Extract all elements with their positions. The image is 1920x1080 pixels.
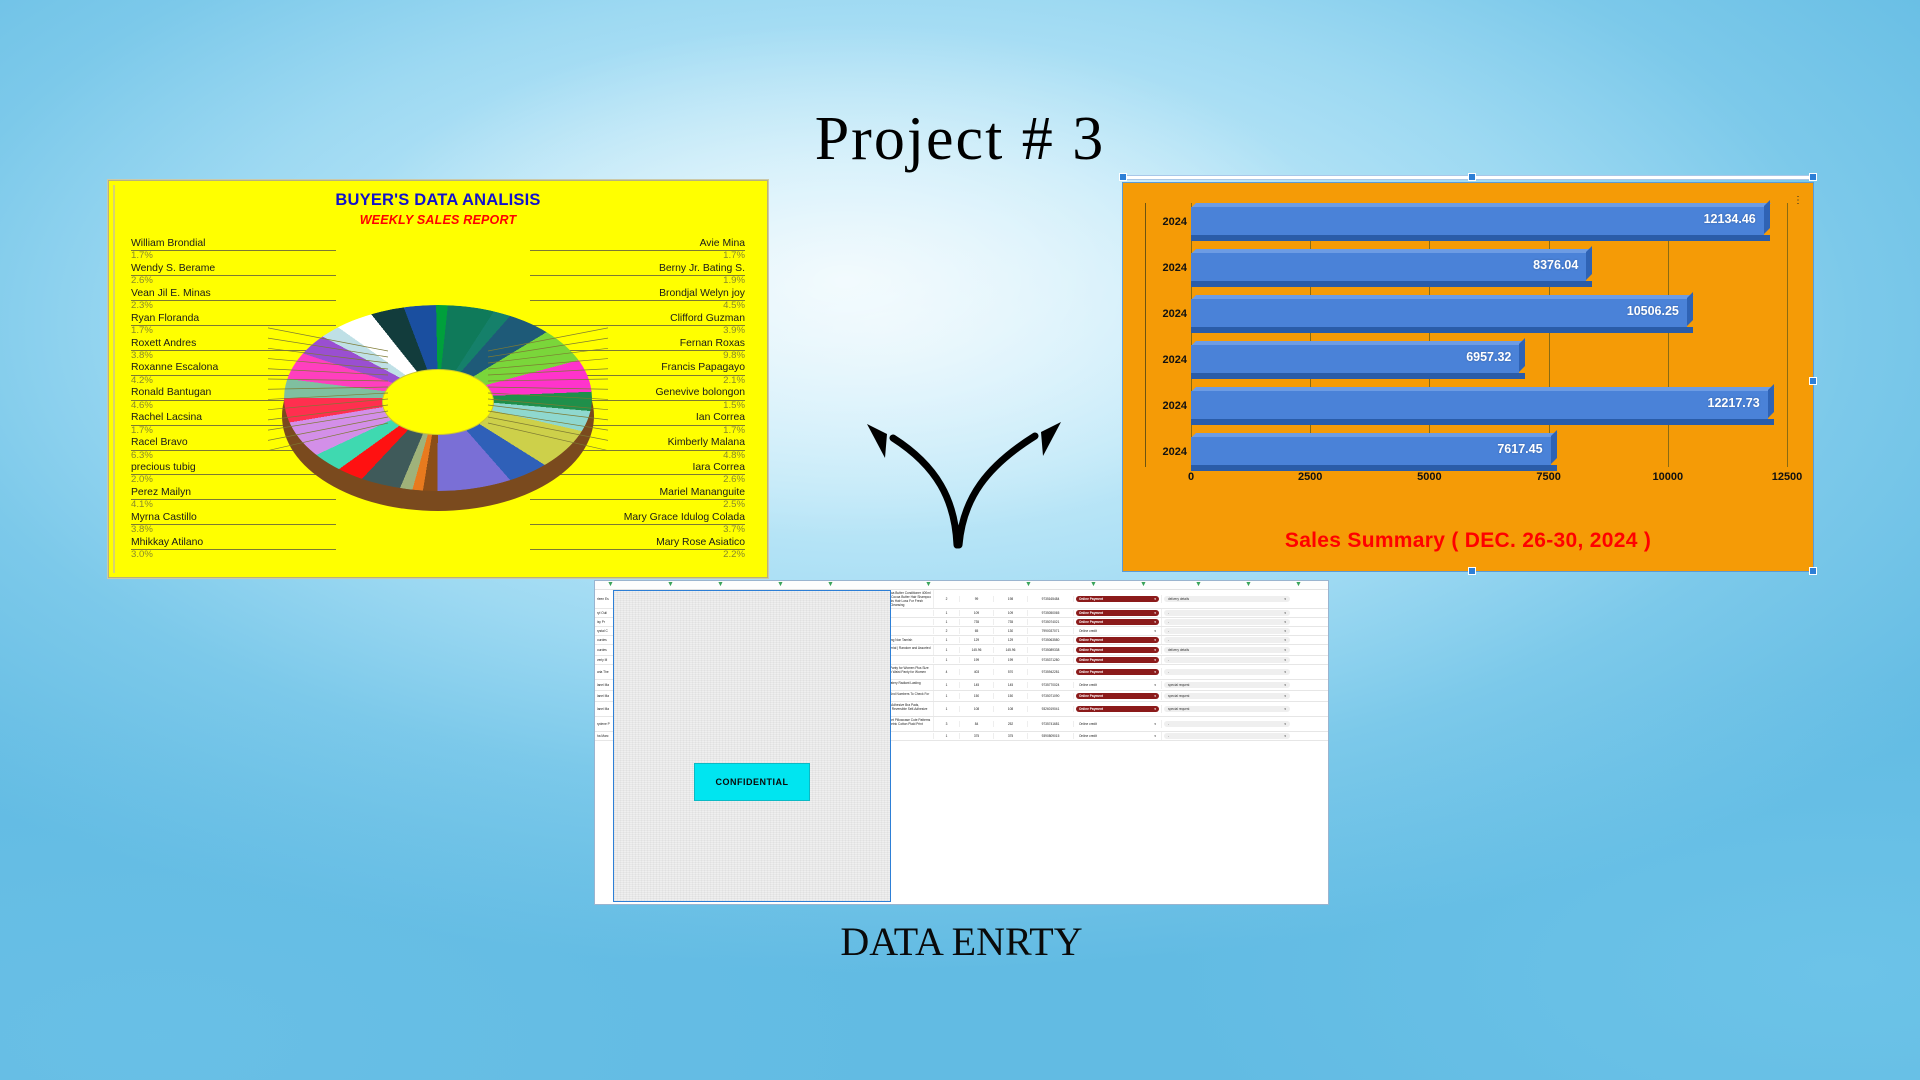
chevron-down-icon[interactable]: ▾ xyxy=(1154,597,1156,601)
bar-face xyxy=(1191,391,1768,419)
bar[interactable]: 8376.04 xyxy=(1191,253,1586,281)
pie-label-name: Berny Jr. Bating S. xyxy=(530,264,745,275)
resize-handle-bc[interactable] xyxy=(1468,567,1476,575)
pie-label-name: Mary Rose Asiatico xyxy=(530,538,745,549)
pie-label-item: William Brondial1.7% xyxy=(131,239,336,264)
x-tick-label: 12500 xyxy=(1772,471,1803,483)
column-filter-icon[interactable]: ▼ xyxy=(925,582,931,588)
split-arrow-icon xyxy=(845,370,1075,550)
pie-label-name: Wendy S. Berame xyxy=(131,264,336,275)
cell-note[interactable]: -▾ xyxy=(1162,636,1292,644)
cell-payment[interactable]: Online Payment▾ xyxy=(1074,595,1162,603)
bar-face xyxy=(1191,253,1586,281)
cell-quantity: 1 xyxy=(934,619,960,625)
bar-bottom-face xyxy=(1191,235,1770,241)
note-dropdown[interactable]: -▾ xyxy=(1164,628,1290,634)
cell-reference: 9326019041 xyxy=(1028,706,1074,712)
note-label: special request xyxy=(1168,707,1189,711)
note-label: - xyxy=(1168,611,1169,615)
bar-top-face xyxy=(1192,249,1593,253)
note-label: - xyxy=(1168,734,1169,738)
chevron-down-icon[interactable]: ▾ xyxy=(1284,620,1286,624)
chevron-down-icon[interactable]: ▾ xyxy=(1154,670,1156,674)
chevron-down-icon[interactable]: ▾ xyxy=(1284,648,1286,652)
pie-label-item: Mary Rose Asiatico2.2% xyxy=(530,538,745,563)
confidential-badge: CONFIDENTIAL xyxy=(694,763,810,801)
note-label: delivery details xyxy=(1168,597,1189,601)
cell-note[interactable]: -▾ xyxy=(1162,720,1292,728)
cell-reference: 9735371280 xyxy=(1028,657,1074,663)
bar-chart-caption: Sales Summary ( DEC. 26-30, 2024 ) xyxy=(1123,529,1813,553)
cell-reference: 9735942281 xyxy=(1028,669,1074,675)
column-filter-icon[interactable]: ▼ xyxy=(1140,582,1146,588)
bar-row[interactable]: 20248376.04 xyxy=(1145,249,1787,291)
payment-label: Online credit xyxy=(1079,629,1097,633)
column-filter-icon[interactable]: ▼ xyxy=(1195,582,1201,588)
cell-total: 375 xyxy=(994,733,1028,739)
x-tick-label: 2500 xyxy=(1298,471,1322,483)
x-tick-label: 5000 xyxy=(1417,471,1441,483)
chevron-down-icon[interactable]: ▾ xyxy=(1284,734,1286,738)
pie-chart-title: BUYER'S DATA ANALISIS xyxy=(109,191,767,210)
cell-total: 199 xyxy=(994,657,1028,663)
cell-quantity: 1 xyxy=(934,637,960,643)
cell-quantity: 1 xyxy=(934,682,960,688)
cell-payment[interactable]: Online Payment▾ xyxy=(1074,692,1162,700)
cell-note[interactable]: delivery details▾ xyxy=(1162,595,1292,603)
bar[interactable]: 7617.45 xyxy=(1191,437,1551,465)
cell-payment[interactable]: Online Payment▾ xyxy=(1074,618,1162,626)
cell-quantity: 1 xyxy=(934,610,960,616)
pie-chart-panel[interactable]: BUYER'S DATA ANALISIS WEEKLY SALES REPOR… xyxy=(108,180,768,578)
column-filter-icon[interactable]: ▼ xyxy=(777,582,783,588)
payment-dropdown[interactable]: Online credit▾ xyxy=(1076,628,1159,634)
note-label: - xyxy=(1168,620,1169,624)
pie-label-percent: 1.7% xyxy=(530,250,745,261)
x-tick-label: 0 xyxy=(1188,471,1194,483)
bar-bottom-face xyxy=(1191,373,1525,379)
bar-row[interactable]: 20247617.45 xyxy=(1145,433,1787,475)
cell-payment[interactable]: Online Payment▾ xyxy=(1074,609,1162,617)
note-label: - xyxy=(1168,670,1169,674)
cell-price: 375 xyxy=(960,733,994,739)
resize-handle-br[interactable] xyxy=(1809,567,1817,575)
chevron-down-icon[interactable]: ▾ xyxy=(1154,694,1156,698)
column-filter-icon[interactable]: ▼ xyxy=(1295,582,1301,588)
cell-payment[interactable]: Online Payment▾ xyxy=(1074,636,1162,644)
cell-reference: 9735741681 xyxy=(1028,721,1074,727)
bar[interactable]: 12217.73 xyxy=(1191,391,1768,419)
cell-total: 145.96 xyxy=(994,647,1028,653)
chevron-down-icon[interactable]: ▾ xyxy=(1284,722,1286,726)
bar-row[interactable]: 202412217.73 xyxy=(1145,387,1787,429)
cell-note[interactable]: -▾ xyxy=(1162,618,1292,626)
cell-quantity: 1 xyxy=(934,706,960,712)
pie-label-name: Avie Mina xyxy=(530,239,745,250)
bar-category-label: 2024 xyxy=(1143,446,1187,458)
cell-total: 570 xyxy=(994,669,1028,675)
x-axis-ticks: 02500500075001000012500 xyxy=(1191,471,1787,487)
payment-label: Online Payment xyxy=(1079,597,1103,601)
cell-quantity: 1 xyxy=(934,693,960,699)
note-dropdown[interactable]: delivery details▾ xyxy=(1164,596,1290,602)
cell-payment[interactable]: Online credit▾ xyxy=(1074,720,1162,728)
chevron-down-icon[interactable]: ▾ xyxy=(1284,694,1286,698)
cell-payment[interactable]: Online credit▾ xyxy=(1074,627,1162,635)
cell-payment[interactable]: Online Payment▾ xyxy=(1074,705,1162,713)
cell-price: 145.96 xyxy=(960,647,994,653)
pie-label-percent: 3.0% xyxy=(131,549,336,560)
bar-side-face xyxy=(1551,430,1557,464)
note-dropdown[interactable]: -▾ xyxy=(1164,619,1290,625)
cell-note[interactable]: special request▾ xyxy=(1162,681,1292,689)
bar[interactable]: 6957.32 xyxy=(1191,345,1519,373)
cell-reference: 9735089338 xyxy=(1028,647,1074,653)
bar-top-face xyxy=(1192,341,1526,345)
chevron-down-icon[interactable]: ▾ xyxy=(1284,658,1286,662)
payment-dropdown[interactable]: Online Payment▾ xyxy=(1076,657,1159,663)
note-label: special request xyxy=(1168,683,1189,687)
bar-chart-panel[interactable]: ⋮ 202412134.4620248376.04202410506.25202… xyxy=(1122,182,1814,572)
column-filter-icon[interactable]: ▼ xyxy=(827,582,833,588)
x-tick-label: 7500 xyxy=(1536,471,1560,483)
payment-label: Online Payment xyxy=(1079,611,1103,615)
payment-dropdown[interactable]: Online Payment▾ xyxy=(1076,693,1159,699)
chevron-down-icon[interactable]: ▾ xyxy=(1154,707,1156,711)
note-label: - xyxy=(1168,629,1169,633)
bar-side-face xyxy=(1519,338,1525,372)
cell-note[interactable]: special request▾ xyxy=(1162,705,1292,713)
cell-reference: 7990037071 xyxy=(1028,628,1074,634)
pie-label-name: William Brondial xyxy=(131,239,336,250)
chevron-down-icon[interactable]: ▾ xyxy=(1284,707,1286,711)
cell-total: 145 xyxy=(994,682,1028,688)
bar-face xyxy=(1191,299,1687,327)
bar-value-label: 7617.45 xyxy=(1497,442,1542,456)
page-title: Project # 3 xyxy=(0,104,1920,175)
cell-quantity: 2 xyxy=(934,628,960,634)
chevron-down-icon[interactable]: ▾ xyxy=(1284,629,1286,633)
payment-dropdown[interactable]: Online Payment▾ xyxy=(1076,637,1159,643)
donut-chart[interactable] xyxy=(268,277,608,527)
bar-side-face xyxy=(1687,292,1693,326)
bar-value-label: 12134.46 xyxy=(1704,212,1756,226)
note-label: delivery details xyxy=(1168,648,1189,652)
chevron-down-icon[interactable]: ▾ xyxy=(1154,638,1156,642)
bar-chart-plot: 202412134.4620248376.04202410506.2520246… xyxy=(1145,197,1787,485)
payment-label: Online credit xyxy=(1079,683,1097,687)
chevron-down-icon[interactable]: ▾ xyxy=(1154,722,1156,726)
payment-label: Online Payment xyxy=(1079,658,1103,662)
cell-payment[interactable]: Online credit▾ xyxy=(1074,681,1162,689)
payment-label: Online Payment xyxy=(1079,638,1103,642)
cell-price: 129 xyxy=(960,637,994,643)
payment-dropdown[interactable]: Online Payment▾ xyxy=(1076,669,1159,675)
note-dropdown[interactable]: delivery details▾ xyxy=(1164,647,1290,653)
bar-category-label: 2024 xyxy=(1143,400,1187,412)
cell-reference: 9735165484 xyxy=(1028,596,1074,602)
chevron-down-icon[interactable]: ▾ xyxy=(1154,611,1156,615)
bar-row[interactable]: 20246957.32 xyxy=(1145,341,1787,383)
chevron-down-icon[interactable]: ▾ xyxy=(1154,658,1156,662)
pie-chart-subtitle: WEEKLY SALES REPORT xyxy=(109,213,767,227)
cell-payment[interactable]: Online Payment▾ xyxy=(1074,656,1162,664)
bar-value-label: 12217.73 xyxy=(1708,396,1760,410)
cell-total: 252 xyxy=(994,721,1028,727)
note-dropdown[interactable]: special request▾ xyxy=(1164,682,1290,688)
payment-label: Online Payment xyxy=(1079,648,1103,652)
cell-note[interactable]: -▾ xyxy=(1162,627,1292,635)
pie-label-percent: 2.2% xyxy=(530,549,745,560)
cell-price: 108 xyxy=(960,706,994,712)
chevron-down-icon[interactable]: ▾ xyxy=(1154,648,1156,652)
bar-side-face xyxy=(1586,246,1592,280)
resize-handle-tl[interactable] xyxy=(1119,173,1127,181)
chevron-down-icon[interactable]: ▾ xyxy=(1154,734,1156,738)
column-filter-icon[interactable]: ▼ xyxy=(1025,582,1031,588)
resize-handle-tr[interactable] xyxy=(1809,173,1817,181)
pie-label-percent: 1.7% xyxy=(131,250,336,261)
note-dropdown[interactable]: -▾ xyxy=(1164,721,1290,727)
cell-reference: 9735050065 xyxy=(1028,610,1074,616)
column-filter-icon[interactable]: ▼ xyxy=(1090,582,1096,588)
note-dropdown[interactable]: -▾ xyxy=(1164,657,1290,663)
x-tick-label: 10000 xyxy=(1653,471,1684,483)
cell-price: 150 xyxy=(960,693,994,699)
payment-label: Online Payment xyxy=(1079,707,1103,711)
cell-quantity: 4 xyxy=(934,669,960,675)
payment-dropdown[interactable]: Online credit▾ xyxy=(1076,733,1159,739)
cell-quantity: 1 xyxy=(934,647,960,653)
cell-price: 84 xyxy=(960,721,994,727)
sheet-caption: DATA ENRTY xyxy=(594,918,1329,965)
spreadsheet-panel[interactable]: ▼▼▼▼▼▼▼▼▼▼▼▼ rleen Es/2024Buy 1 Bremod P… xyxy=(594,580,1329,905)
payment-label: Online credit xyxy=(1079,722,1097,726)
column-filter-icon[interactable]: ▼ xyxy=(667,582,673,588)
bar-top-face xyxy=(1192,433,1558,437)
payment-label: Online Payment xyxy=(1079,670,1103,674)
pie-label-name: Mhikkay Atilano xyxy=(131,538,336,549)
resize-handle-tc[interactable] xyxy=(1468,173,1476,181)
cell-price: 109 xyxy=(960,610,994,616)
bar-top-face xyxy=(1192,295,1694,299)
cell-quantity: 3 xyxy=(934,721,960,727)
bar-value-label: 10506.25 xyxy=(1627,304,1679,318)
note-dropdown[interactable]: -▾ xyxy=(1164,733,1290,739)
bar[interactable]: 12134.46 xyxy=(1191,207,1764,235)
column-filter-icon[interactable]: ▼ xyxy=(1245,582,1251,588)
payment-dropdown[interactable]: Online Payment▾ xyxy=(1076,596,1159,602)
cell-note[interactable]: -▾ xyxy=(1162,609,1292,617)
bar-category-label: 2024 xyxy=(1143,262,1187,274)
cell-payment[interactable]: Online Payment▾ xyxy=(1074,668,1162,676)
payment-dropdown[interactable]: Online Payment▾ xyxy=(1076,647,1159,653)
cell-total: 109 xyxy=(994,610,1028,616)
filter-row[interactable]: ▼▼▼▼▼▼▼▼▼▼▼▼ xyxy=(595,581,1328,590)
cell-quantity: 2 xyxy=(934,596,960,602)
cell-total: 735 xyxy=(994,619,1028,625)
chevron-down-icon[interactable]: ▾ xyxy=(1284,670,1286,674)
cell-payment[interactable]: Online credit▾ xyxy=(1074,732,1162,740)
bar-category-label: 2024 xyxy=(1143,354,1187,366)
bar-row[interactable]: 202410506.25 xyxy=(1145,295,1787,337)
payment-dropdown[interactable]: Online Payment▾ xyxy=(1076,610,1159,616)
panel-left-edge xyxy=(113,185,115,573)
chevron-down-icon[interactable]: ▾ xyxy=(1284,638,1286,642)
cell-note[interactable]: delivery details▾ xyxy=(1162,646,1292,654)
note-dropdown[interactable]: special request▾ xyxy=(1164,706,1290,712)
cell-reference: 9735074021 xyxy=(1028,619,1074,625)
cell-reference: 9390809015 xyxy=(1028,733,1074,739)
chevron-down-icon[interactable]: ▾ xyxy=(1154,683,1156,687)
cell-reference: 9735071090 xyxy=(1028,693,1074,699)
note-dropdown[interactable]: special request▾ xyxy=(1164,693,1290,699)
bar-bottom-face xyxy=(1191,281,1592,287)
cell-total: 129 xyxy=(994,637,1028,643)
column-filter-icon[interactable]: ▼ xyxy=(607,582,613,588)
cell-total: 198 xyxy=(994,596,1028,602)
bar-category-label: 2024 xyxy=(1143,216,1187,228)
bar[interactable]: 10506.25 xyxy=(1191,299,1687,327)
chart-options-icon[interactable]: ⋮ xyxy=(1793,199,1803,203)
note-dropdown[interactable]: -▾ xyxy=(1164,669,1290,675)
cell-note[interactable]: -▾ xyxy=(1162,732,1292,740)
redacted-overlay[interactable]: CONFIDENTIAL xyxy=(613,590,891,902)
cell-price: 403 xyxy=(960,669,994,675)
payment-dropdown[interactable]: Online credit▾ xyxy=(1076,682,1159,688)
chevron-down-icon[interactable]: ▾ xyxy=(1154,620,1156,624)
bar-bottom-face xyxy=(1191,327,1693,333)
payment-dropdown[interactable]: Online Payment▾ xyxy=(1076,706,1159,712)
cell-price: 145 xyxy=(960,682,994,688)
cell-note[interactable]: special request▾ xyxy=(1162,692,1292,700)
bar-top-face xyxy=(1192,387,1775,391)
donut-hole xyxy=(382,369,494,435)
gridline xyxy=(1787,203,1788,467)
cell-note[interactable]: -▾ xyxy=(1162,668,1292,676)
chevron-down-icon[interactable]: ▾ xyxy=(1284,597,1286,601)
bar-top-face xyxy=(1192,203,1771,207)
cell-reference: 9735063580 xyxy=(1028,637,1074,643)
cell-note[interactable]: -▾ xyxy=(1162,656,1292,664)
bar-bottom-face xyxy=(1191,419,1774,425)
bar-row[interactable]: 202412134.46 xyxy=(1145,203,1787,245)
cell-reference: 9735770024 xyxy=(1028,682,1074,688)
bar-side-face xyxy=(1764,200,1770,234)
payment-dropdown[interactable]: Online credit▾ xyxy=(1076,721,1159,727)
cell-total: 150 xyxy=(994,693,1028,699)
payment-dropdown[interactable]: Online Payment▾ xyxy=(1076,619,1159,625)
note-dropdown[interactable]: -▾ xyxy=(1164,637,1290,643)
cell-price: 199 xyxy=(960,657,994,663)
cell-total: 130 xyxy=(994,628,1028,634)
pie-label-item: Avie Mina1.7% xyxy=(530,239,745,264)
bar-value-label: 6957.32 xyxy=(1466,350,1511,364)
chevron-down-icon[interactable]: ▾ xyxy=(1284,611,1286,615)
cell-quantity: 1 xyxy=(934,733,960,739)
note-label: - xyxy=(1168,722,1169,726)
note-label: - xyxy=(1168,658,1169,662)
note-dropdown[interactable]: -▾ xyxy=(1164,610,1290,616)
bar-side-face xyxy=(1768,384,1774,418)
chevron-down-icon[interactable]: ▾ xyxy=(1154,629,1156,633)
cell-price: 65 xyxy=(960,628,994,634)
bar-face xyxy=(1191,207,1764,235)
cell-payment[interactable]: Online Payment▾ xyxy=(1074,646,1162,654)
resize-handle-mr[interactable] xyxy=(1809,377,1817,385)
bar-category-label: 2024 xyxy=(1143,308,1187,320)
cell-quantity: 1 xyxy=(934,657,960,663)
chevron-down-icon[interactable]: ▾ xyxy=(1284,683,1286,687)
cell-price: 735 xyxy=(960,619,994,625)
payment-label: Online credit xyxy=(1079,734,1097,738)
bar-value-label: 8376.04 xyxy=(1533,258,1578,272)
column-filter-icon[interactable]: ▼ xyxy=(717,582,723,588)
cell-total: 108 xyxy=(994,706,1028,712)
note-label: - xyxy=(1168,638,1169,642)
payment-label: Online Payment xyxy=(1079,620,1103,624)
cell-price: 99 xyxy=(960,596,994,602)
payment-label: Online Payment xyxy=(1079,694,1103,698)
pie-label-item: Mhikkay Atilano3.0% xyxy=(131,538,336,563)
note-label: special request xyxy=(1168,694,1189,698)
